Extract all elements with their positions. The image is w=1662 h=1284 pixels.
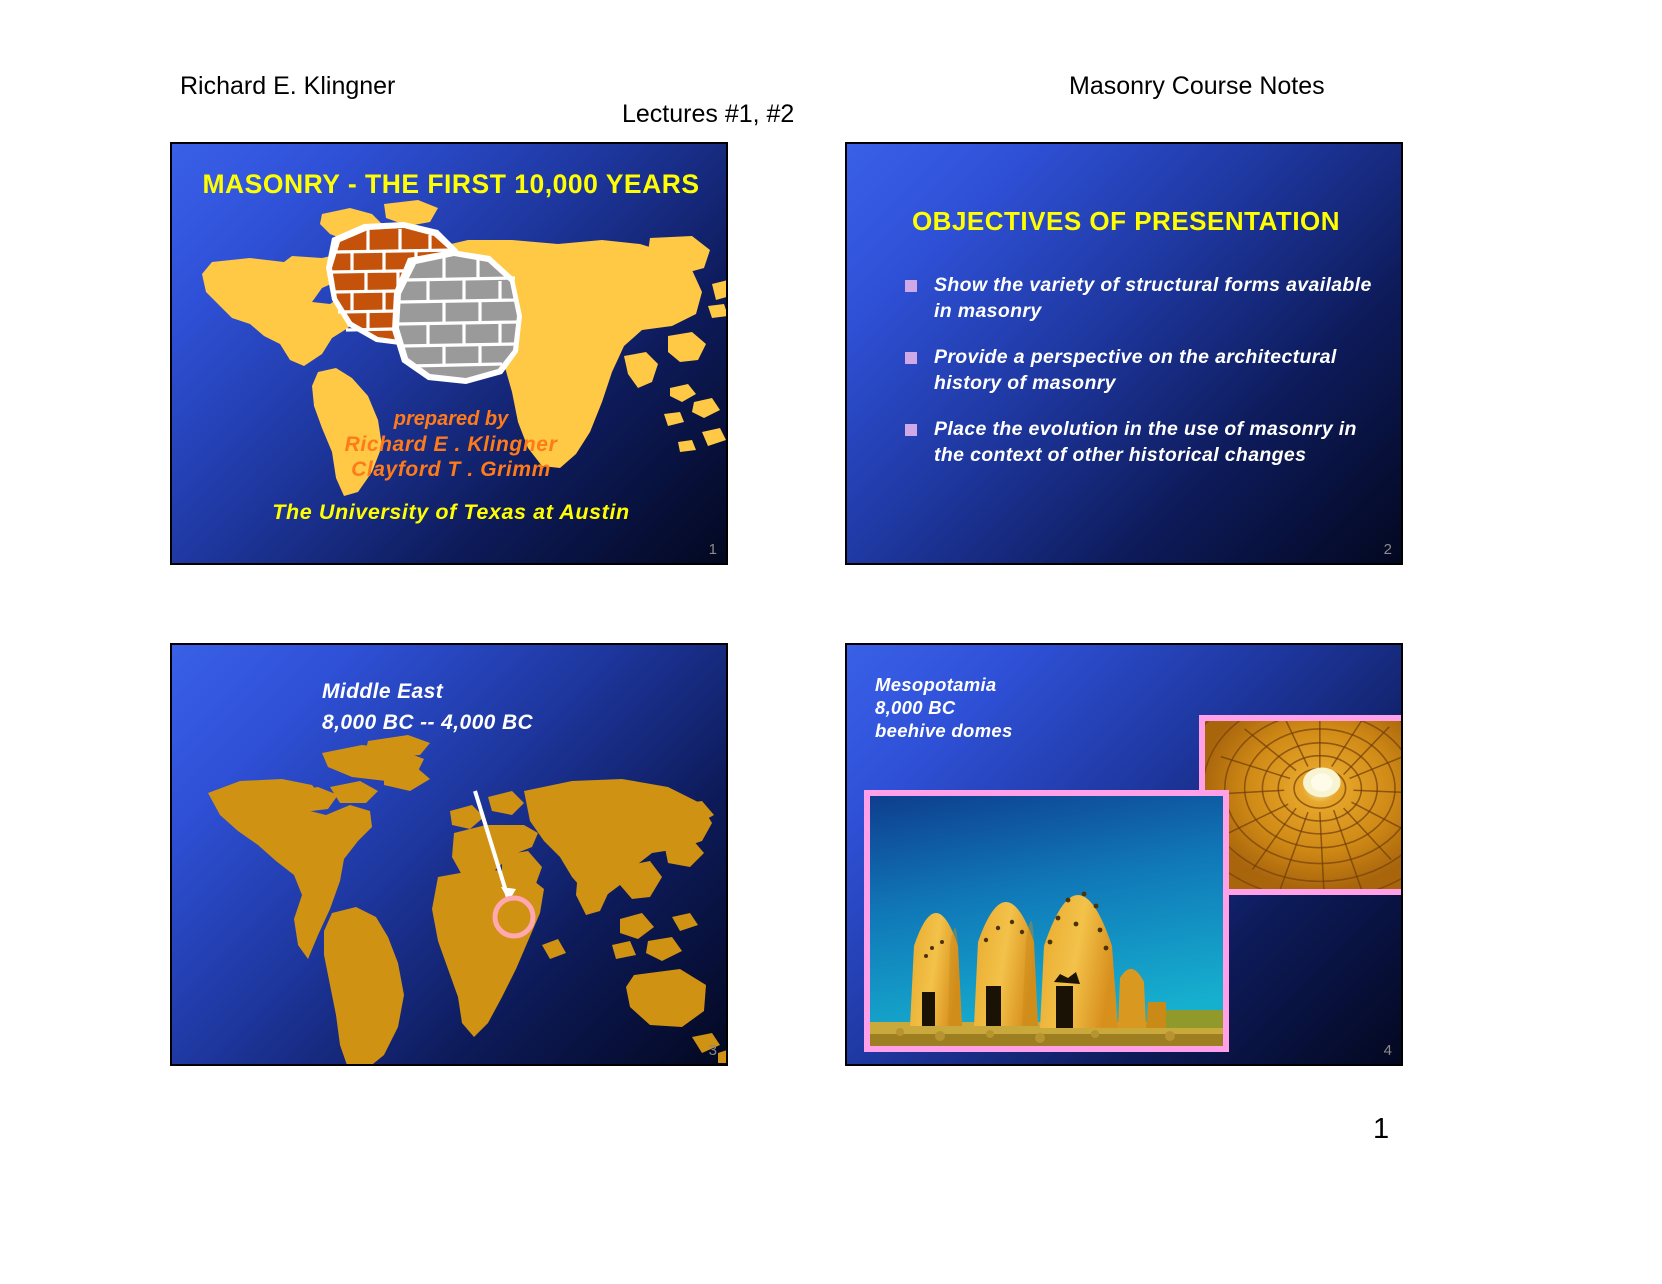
objective-text: Show the variety of structural forms ava… (934, 274, 1372, 322)
beehive-domes-image (870, 796, 1223, 1046)
slide-number: 3 (709, 1042, 717, 1059)
slide-3[interactable]: Middle East 8,000 BC -- 4,000 BC 3 (170, 643, 728, 1066)
slide-number: 4 (1384, 1042, 1392, 1059)
objectives-list: Show the variety of structural forms ava… (905, 272, 1385, 488)
slide-1-author-1: Richard E . Klingner (172, 433, 728, 457)
square-bullet-icon (905, 280, 917, 292)
slide-1-author-2: Clayford T . Grimm (172, 458, 728, 482)
photo-beehive-domes-exterior[interactable] (864, 790, 1229, 1052)
page-number: 1 (1373, 1113, 1389, 1146)
slide-number: 2 (1384, 541, 1392, 558)
slide-number: 1 (709, 541, 717, 558)
slide-2-title: OBJECTIVES OF PRESENTATION (847, 206, 1403, 237)
slide-1-institution: The University of Texas at Austin (172, 500, 728, 525)
header-lecture-label: Lectures #1, #2 (622, 100, 794, 129)
slide-3-label-line-2: 8,000 BC -- 4,000 BC (322, 711, 533, 734)
objective-item: Provide a perspective on the architectur… (905, 344, 1385, 396)
slide-3-map-label: Middle East 8,000 BC -- 4,000 BC (322, 676, 533, 738)
square-bullet-icon (905, 424, 917, 436)
slide-2[interactable]: OBJECTIVES OF PRESENTATION Show the vari… (845, 142, 1403, 565)
objective-text: Place the evolution in the use of masonr… (934, 418, 1357, 466)
objective-text: Provide a perspective on the architectur… (934, 346, 1337, 394)
objective-item: Place the evolution in the use of masonr… (905, 416, 1385, 468)
header-course-title: Masonry Course Notes (1069, 72, 1325, 101)
slide-3-label-line-1: Middle East (322, 680, 443, 703)
dome-interior-image (1205, 721, 1403, 889)
slide-1-prepared-by: prepared by (172, 408, 728, 431)
objective-item: Show the variety of structural forms ava… (905, 272, 1385, 324)
square-bullet-icon (905, 352, 917, 364)
slide-1-title: MASONRY - THE FIRST 10,000 YEARS (184, 169, 718, 200)
photo-dome-interior-brick-corbel-oculus[interactable] (1199, 715, 1403, 895)
slide-4-caption: Mesopotamia 8,000 BC beehive domes (875, 673, 1013, 742)
block-wall-gray (392, 250, 522, 384)
slide-4[interactable]: Mesopotamia 8,000 BC beehive domes (845, 643, 1403, 1066)
slide-1[interactable]: MASONRY - THE FIRST 10,000 YEARS prepare… (170, 142, 728, 565)
header-author: Richard E. Klingner (180, 72, 395, 101)
